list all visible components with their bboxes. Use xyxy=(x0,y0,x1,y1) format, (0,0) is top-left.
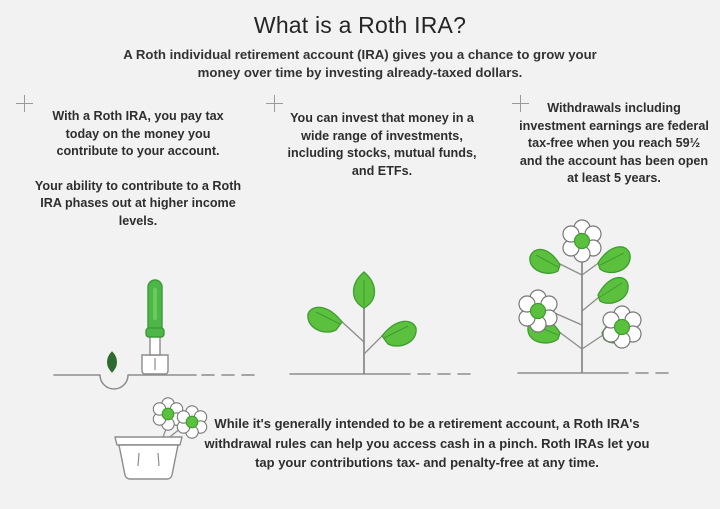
sprout-illustration xyxy=(288,262,478,392)
basket-body xyxy=(119,445,178,479)
leaf-upper-left xyxy=(530,249,560,273)
leaf-right xyxy=(382,321,416,346)
shovel-handle-collar xyxy=(146,328,164,337)
plus-icon xyxy=(16,95,33,112)
seed-icon xyxy=(108,352,117,372)
seed-and-shovel-illustration xyxy=(52,270,262,395)
stem-branch-right xyxy=(364,334,384,354)
footer-text: While it's generally intended to be a re… xyxy=(196,414,658,473)
flower-top xyxy=(563,220,601,262)
column-1-paragraph-1: With a Roth IRA, you pay tax today on th… xyxy=(34,108,242,161)
flower-right xyxy=(603,306,641,348)
basket-rim xyxy=(115,437,182,445)
leaf-upper-right xyxy=(598,247,630,273)
roth-ira-infographic: What is a Roth IRA? A Roth individual re… xyxy=(0,0,720,509)
column-1-paragraph-2: Your ability to contribute to a Roth IRA… xyxy=(34,178,242,231)
column-1-text: With a Roth IRA, you pay tax today on th… xyxy=(34,108,242,231)
page-title: What is a Roth IRA? xyxy=(0,12,720,39)
flowering-plant-illustration xyxy=(516,215,716,392)
page-subtitle: A Roth individual retirement account (IR… xyxy=(110,46,610,82)
shovel-handle-highlight xyxy=(153,288,157,320)
leaf-left xyxy=(308,307,342,332)
flower-left xyxy=(519,290,557,332)
plus-icon xyxy=(266,95,283,112)
leaf-mid-right xyxy=(598,278,628,304)
column-2-text: You can invest that money in a wide rang… xyxy=(282,110,482,180)
column-3-paragraph-1: Withdrawals including investment earning… xyxy=(516,100,712,188)
stem-branch-left xyxy=(340,320,364,342)
column-2-paragraph-1: You can invest that money in a wide rang… xyxy=(282,110,482,180)
column-3-text: Withdrawals including investment earning… xyxy=(516,100,712,188)
stem-branch-lower-left xyxy=(558,331,582,349)
planting-hole xyxy=(100,375,128,389)
stem-branch-upper-left xyxy=(558,263,582,275)
